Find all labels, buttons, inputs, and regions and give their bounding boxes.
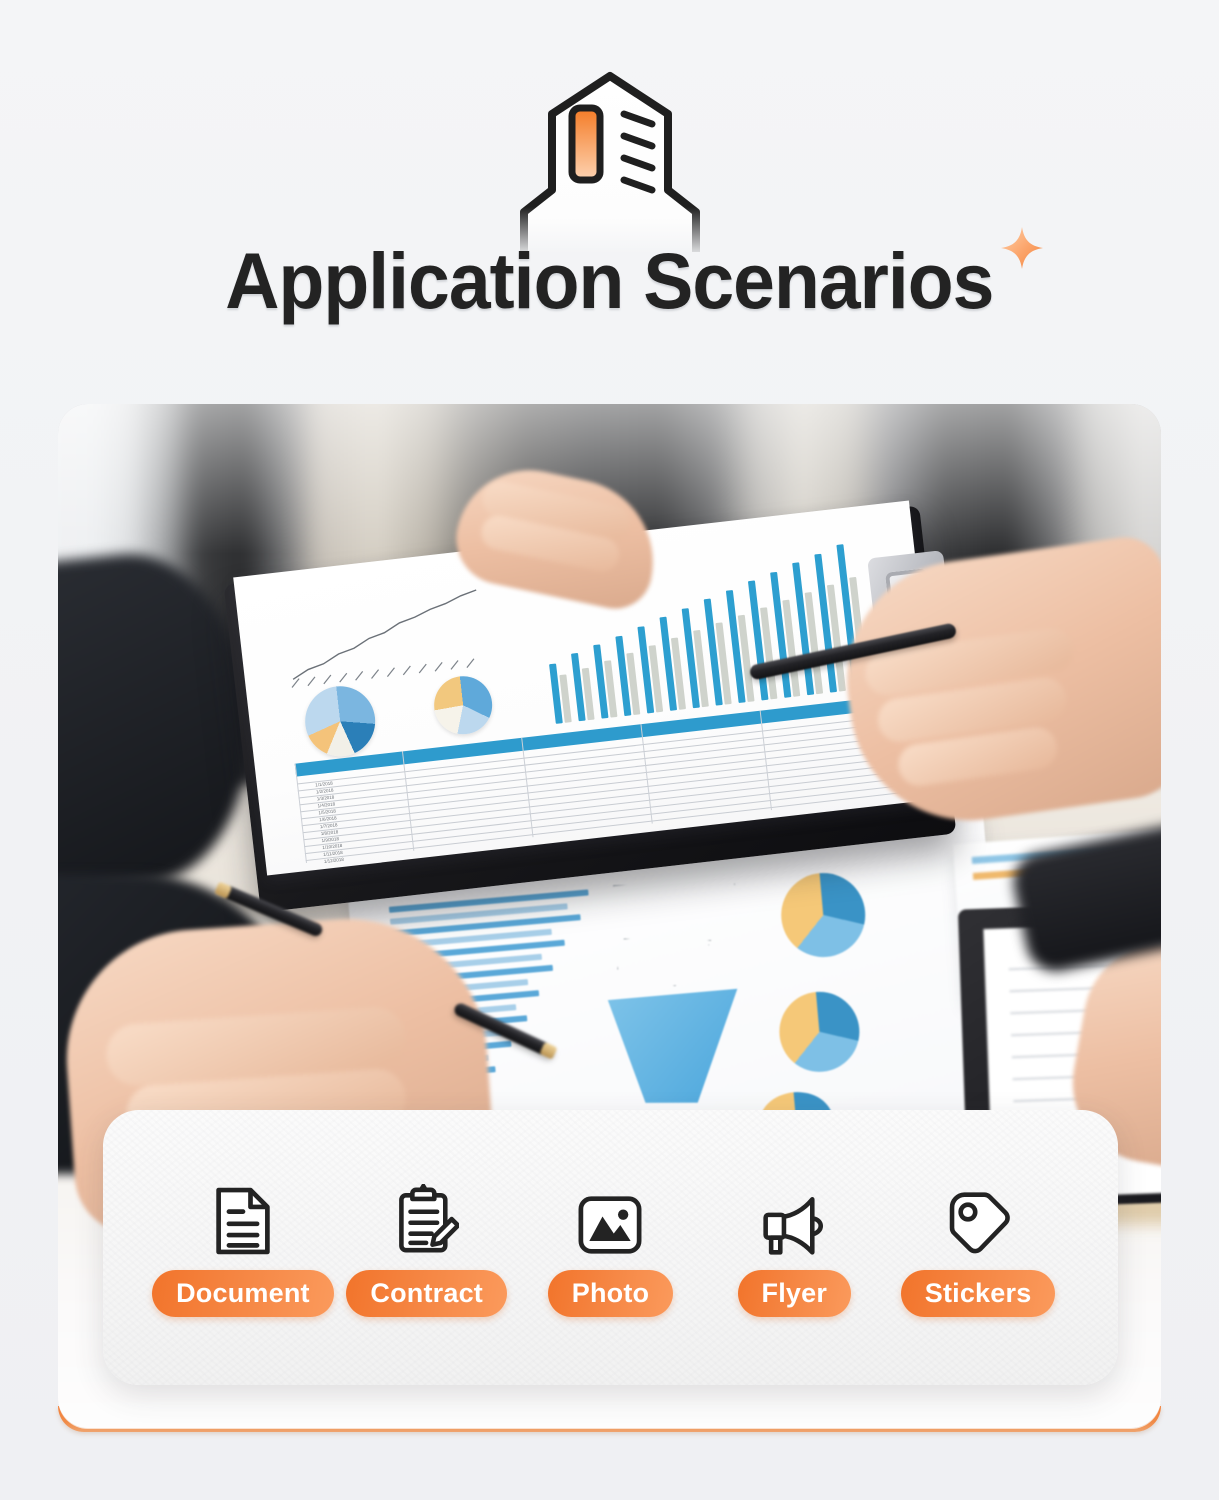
scenario-badge-flyer[interactable]: Flyer (738, 1270, 852, 1317)
scenario-badge-stickers[interactable]: Stickers (901, 1270, 1056, 1317)
image-photo-icon (576, 1178, 644, 1256)
sparkle-star-icon (998, 224, 1046, 272)
page-title: Application Scenarios (225, 238, 993, 324)
title-row: Application Scenarios (0, 238, 1219, 324)
clipboard-pencil-icon (395, 1178, 459, 1256)
megaphone-icon (759, 1178, 829, 1256)
scenario-item-flyer[interactable]: Flyer (702, 1178, 886, 1317)
scenario-item-photo[interactable]: Photo (519, 1178, 703, 1317)
scenario-badge-contract[interactable]: Contract (346, 1270, 507, 1317)
scenario-list: Document (103, 1110, 1118, 1385)
page-root: Application Scenarios (0, 0, 1219, 1500)
document-icon (213, 1178, 273, 1256)
price-tag-icon (946, 1178, 1010, 1256)
scenario-badge-document[interactable]: Document (152, 1270, 334, 1317)
scenario-card: Document (103, 1110, 1118, 1385)
scenario-item-document[interactable]: Document (151, 1178, 335, 1317)
scenario-item-stickers[interactable]: Stickers (886, 1178, 1070, 1317)
scenario-item-contract[interactable]: Contract (335, 1178, 519, 1317)
scenario-badge-photo[interactable]: Photo (548, 1270, 673, 1317)
building-skyscraper-icon (500, 62, 720, 252)
header: Application Scenarios (0, 0, 1219, 390)
